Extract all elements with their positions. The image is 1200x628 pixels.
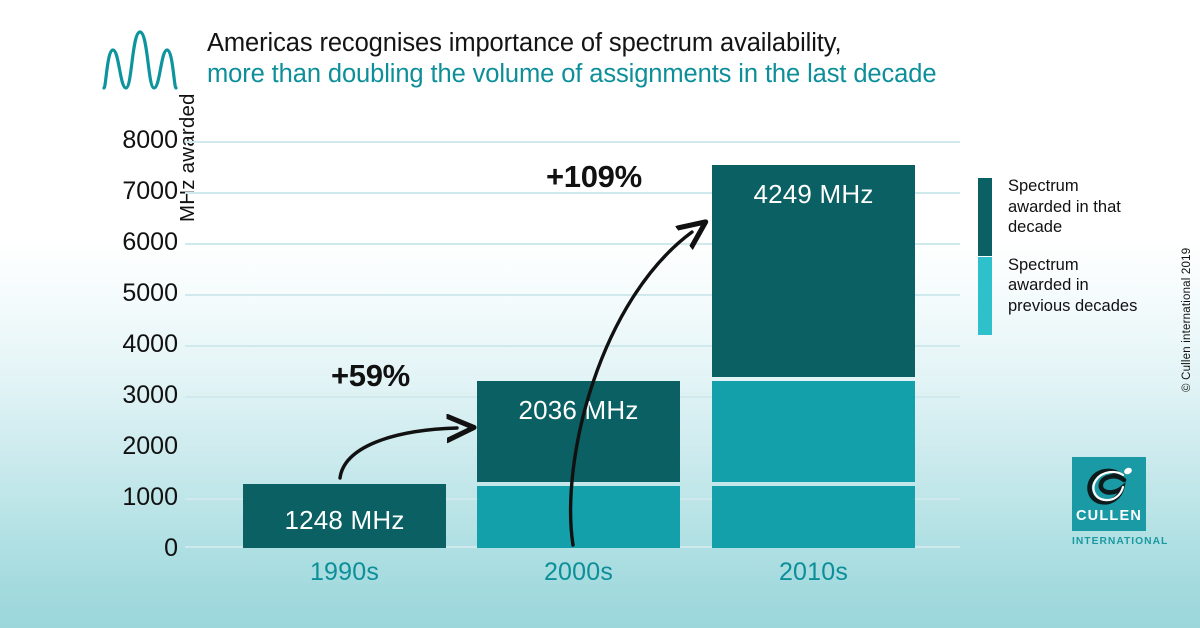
spectrum-wave-icon bbox=[100, 26, 180, 98]
legend-item-awarded-previous-decades[interactable]: Spectrum awarded in previous decades bbox=[978, 255, 1138, 317]
legend-item-awarded-that-decade[interactable]: Spectrum awarded in that decade bbox=[978, 176, 1138, 238]
y-tick-1000: 1000 bbox=[86, 485, 178, 510]
page-title: Americas recognises importance of spectr… bbox=[207, 28, 1167, 90]
legend-swatch-light-icon bbox=[978, 257, 992, 335]
bar-value-label-2010s: 4249 MHz bbox=[712, 179, 915, 210]
bar-segment-1990s-awarded-that-decade[interactable]: 1248 MHz bbox=[243, 484, 446, 548]
y-tick-2000: 2000 bbox=[86, 434, 178, 459]
logo-box: CULLEN bbox=[1072, 457, 1146, 531]
x-axis-label-1990s: 1990s bbox=[243, 558, 446, 587]
bar-group-2010s[interactable]: 4249 MHz bbox=[712, 165, 915, 548]
logo-wordmark: CULLEN bbox=[1072, 508, 1146, 524]
copyright-notice: © Cullen international 2019 bbox=[1181, 248, 1193, 392]
x-axis-label-2000s: 2000s bbox=[477, 558, 680, 587]
bar-segment-2010s-awarded-that-decade[interactable]: 4249 MHz bbox=[712, 165, 915, 377]
growth-label-59: +59% bbox=[331, 358, 410, 394]
bar-value-label-1990s: 1248 MHz bbox=[243, 505, 446, 536]
gridline-8000 bbox=[185, 141, 960, 143]
y-tick-7000: 7000 bbox=[86, 179, 178, 204]
growth-label-109: +109% bbox=[546, 159, 642, 195]
plot-area: 1248 MHz 2036 MHz 4249 MHz bbox=[185, 141, 960, 548]
bar-segment-2010s-previous-lower[interactable] bbox=[712, 486, 915, 548]
legend-label-awarded-that-decade: Spectrum awarded in that decade bbox=[1008, 177, 1121, 236]
y-tick-5000: 5000 bbox=[86, 281, 178, 306]
y-tick-3000: 3000 bbox=[86, 383, 178, 408]
title-line-primary: Americas recognises importance of spectr… bbox=[207, 28, 1167, 59]
infographic-canvas: Americas recognises importance of spectr… bbox=[0, 0, 1200, 628]
title-line-secondary: more than doubling the volume of assignm… bbox=[207, 59, 1167, 90]
bar-group-2000s[interactable]: 2036 MHz bbox=[477, 381, 680, 548]
bar-segment-2000s-awarded-previous-decades[interactable] bbox=[477, 486, 680, 548]
bar-segment-2000s-awarded-that-decade[interactable]: 2036 MHz bbox=[477, 381, 680, 482]
x-axis-label-2010s: 2010s bbox=[712, 558, 915, 587]
chart-legend: Spectrum awarded in that decade Spectrum… bbox=[978, 176, 1138, 333]
y-tick-0: 0 bbox=[86, 536, 178, 561]
legend-swatch-dark-icon bbox=[978, 178, 992, 256]
cullen-international-logo[interactable]: CULLEN INTERNATIONAL bbox=[1072, 457, 1146, 547]
y-tick-8000: 8000 bbox=[86, 128, 178, 153]
legend-label-awarded-previous-decades: Spectrum awarded in previous decades bbox=[1008, 256, 1137, 315]
y-axis: 8000 7000 6000 5000 4000 3000 2000 1000 … bbox=[86, 128, 178, 556]
bar-value-label-2000s: 2036 MHz bbox=[477, 395, 680, 426]
cullen-e-mark-icon bbox=[1080, 463, 1138, 509]
logo-subtitle: INTERNATIONAL bbox=[1072, 536, 1146, 547]
bar-group-1990s[interactable]: 1248 MHz bbox=[243, 484, 446, 548]
y-tick-6000: 6000 bbox=[86, 230, 178, 255]
bar-segment-2010s-awarded-previous-decades[interactable] bbox=[712, 381, 915, 482]
y-tick-4000: 4000 bbox=[86, 332, 178, 357]
